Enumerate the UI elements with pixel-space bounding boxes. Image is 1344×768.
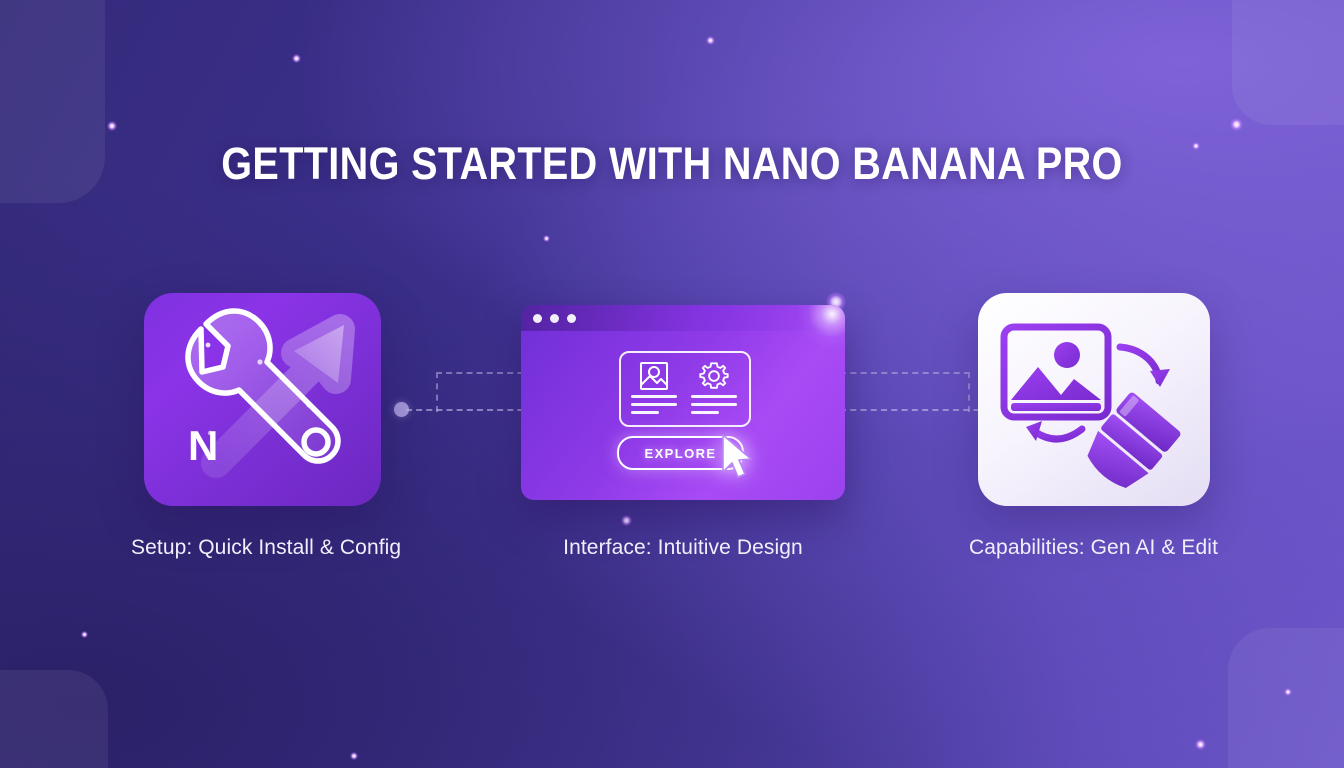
- step-card-interface[interactable]: EXPLORE Interface: Intuitive Design: [521, 305, 845, 500]
- text-line: [691, 411, 719, 414]
- text-line: [631, 395, 677, 398]
- sparkle-particle: [1230, 118, 1243, 131]
- decor-panel-top-right: [1232, 0, 1344, 125]
- setup-card-illustration: N: [144, 293, 381, 506]
- browser-window-mockup: EXPLORE: [521, 305, 845, 500]
- sparkle-particle: [543, 235, 550, 242]
- setup-card-surface: N: [144, 293, 381, 506]
- capabilities-caption: Capabilities: Gen AI & Edit: [962, 536, 1225, 560]
- content-panel: [619, 351, 751, 427]
- sparkle-particle: [1195, 739, 1206, 750]
- capabilities-card-illustration: [978, 293, 1210, 506]
- image-frame-icon: [1004, 327, 1108, 417]
- panel-text-lines-left: [631, 395, 677, 419]
- text-line: [631, 411, 659, 414]
- arrow-cursor-icon: [717, 432, 761, 482]
- sparkle-particle: [706, 36, 715, 45]
- page-title: GETTING STARTED WITH NANO BANANA PRO: [81, 138, 1264, 190]
- photo-icon: [638, 361, 670, 391]
- panel-column-settings: [691, 361, 737, 396]
- text-line: [691, 395, 737, 398]
- panel-text-lines-right: [691, 395, 737, 419]
- sparkle-particle: [81, 631, 88, 638]
- connector-bracket-right: [840, 372, 970, 412]
- traffic-dot-maximize-icon[interactable]: [567, 314, 576, 323]
- capabilities-card-surface: [978, 293, 1210, 506]
- infographic-canvas: GETTING STARTED WITH NANO BANANA PRO: [0, 0, 1344, 768]
- decor-panel-bottom-left: [0, 670, 108, 768]
- gear-icon: [698, 361, 730, 391]
- sparkle-particle: [292, 54, 301, 63]
- nano-n-letter: N: [188, 422, 218, 469]
- interface-caption: Interface: Intuitive Design: [521, 536, 845, 560]
- setup-caption: Setup: Quick Install & Config: [131, 536, 393, 560]
- text-line: [631, 403, 677, 406]
- step-card-capabilities[interactable]: Capabilities: Gen AI & Edit: [962, 293, 1225, 506]
- decor-panel-bottom-right: [1228, 628, 1344, 768]
- window-titlebar: [521, 305, 845, 331]
- sparkle-particle: [621, 515, 632, 526]
- panel-column-media: [631, 361, 677, 396]
- traffic-dot-minimize-icon[interactable]: [550, 314, 559, 323]
- sparkle-particle: [107, 121, 117, 131]
- sparkle-particle: [350, 752, 358, 760]
- text-line: [691, 403, 737, 406]
- traffic-dot-close-icon[interactable]: [533, 314, 542, 323]
- traffic-light-dots: [533, 314, 576, 323]
- step-card-setup[interactable]: N Setup: Quick Install & Config: [131, 293, 393, 506]
